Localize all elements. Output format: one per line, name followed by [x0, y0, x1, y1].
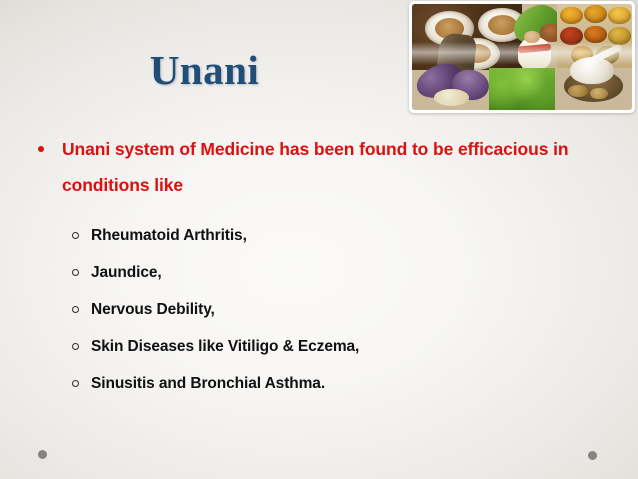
sub-bullet-text: Jaundice, — [91, 264, 162, 281]
list-item: Nervous Debility, — [0, 291, 638, 328]
list-item: Sinusitis and Bronchial Asthma. — [0, 365, 638, 402]
decorative-dot-right — [588, 451, 597, 460]
list-item: Rheumatoid Arthritis, — [0, 217, 638, 254]
list-item: Jaundice, — [0, 254, 638, 291]
slide-title: Unani — [0, 47, 409, 93]
herbal-collage-image — [412, 4, 632, 110]
sub-bullet-text: Sinusitis and Bronchial Asthma. — [91, 375, 325, 392]
hollow-circle-icon — [72, 306, 79, 313]
hollow-circle-icon — [72, 343, 79, 350]
dried-nut-1 — [568, 85, 588, 98]
main-bullet-item: Unani system of Medicine has been found … — [0, 131, 638, 203]
spice-scoop-2 — [584, 5, 606, 23]
sub-bullet-list: Rheumatoid Arthritis, Jaundice, Nervous … — [0, 217, 638, 402]
slide-canvas: Unani Unani system of Medicine has been … — [0, 0, 638, 479]
sub-bullet-text: Nervous Debility, — [91, 301, 215, 318]
spice-scoop-1 — [560, 7, 582, 25]
spice-scoop-3 — [608, 7, 630, 25]
sub-bullet-text: Rheumatoid Arthritis, — [91, 227, 247, 244]
white-haze-overlay — [412, 42, 632, 65]
bullet-dot-icon — [38, 146, 44, 152]
hollow-circle-icon — [72, 380, 79, 387]
hollow-circle-icon — [72, 232, 79, 239]
spice-scoop-5 — [584, 26, 606, 44]
herbal-collage-image-frame — [409, 1, 635, 113]
decorative-dot-left — [38, 450, 47, 459]
list-item: Skin Diseases like Vitiligo & Eczema, — [0, 328, 638, 365]
sub-bullet-text: Skin Diseases like Vitiligo & Eczema, — [91, 338, 359, 355]
pale-seed-shape — [434, 89, 469, 106]
hollow-circle-icon — [72, 269, 79, 276]
green-herb-bed — [489, 68, 555, 110]
slide-body: Unani system of Medicine has been found … — [0, 131, 638, 402]
main-bullet-text: Unani system of Medicine has been found … — [62, 139, 568, 195]
